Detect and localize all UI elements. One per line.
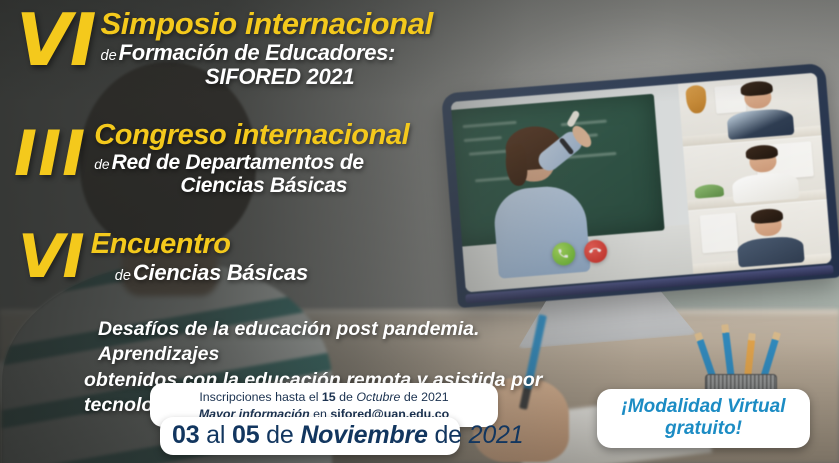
banner-content: VI Simposio internacional deFormación de… [0, 0, 839, 463]
event-text: Simposio internacional deFormación de Ed… [101, 8, 433, 88]
registration-year: de 2021 [400, 390, 448, 404]
date-day-start: 03 [172, 421, 199, 449]
registration-deadline-line: Inscripciones hasta el 15 de Octubre de … [164, 389, 484, 406]
event-heading: Simposio internacional [101, 8, 433, 40]
date-connector-1: al [199, 421, 232, 449]
date-month: Noviembre [300, 421, 427, 449]
event-subheading-line1: deCiencias Básicas [91, 261, 308, 284]
tagline-line-1: Desafíos de la educación post pandemia. … [84, 317, 584, 368]
registration-day: 15 [322, 390, 336, 404]
event-numeral: III [14, 127, 86, 180]
event-block-simposio: VI Simposio internacional deFormación de… [16, 8, 433, 88]
event-text: Encuentro deCiencias Básicas [91, 230, 308, 284]
event-date-card: 03 al 05 de Noviembre de 2021 [160, 417, 460, 455]
date-connector-3: de [428, 421, 469, 449]
connector-de: de [101, 48, 117, 64]
event-subheading-line1: deRed de Departamentos de [94, 152, 409, 174]
event-heading: Encuentro [91, 230, 308, 260]
subheading-text: Ciencias Básicas [133, 260, 308, 285]
event-subheading-line2: SIFORED 2021 [101, 65, 433, 88]
date-year: 2021 [469, 421, 524, 449]
registration-connector: de [336, 390, 357, 404]
event-date-line: 03 al 05 de Noviembre de 2021 [172, 420, 448, 451]
event-numeral: VI [16, 10, 95, 72]
registration-prefix: Inscripciones hasta el [199, 390, 322, 404]
badge-line-2: gratuito! [607, 418, 800, 440]
connector-de: de [115, 268, 131, 284]
date-day-end: 05 [232, 421, 259, 449]
event-block-congreso: III Congreso internacional deRed de Depa… [14, 121, 409, 197]
event-block-encuentro: VI Encuentro deCiencias Básicas [18, 230, 308, 284]
event-promo-banner: VI Simposio internacional deFormación de… [0, 0, 839, 463]
subheading-text: Formación de Educadores: [119, 40, 395, 65]
event-text: Congreso internacional deRed de Departam… [94, 121, 409, 197]
event-subheading-line1: deFormación de Educadores: [101, 41, 433, 64]
connector-de: de [94, 156, 109, 172]
event-heading: Congreso internacional [94, 121, 409, 151]
event-numeral: VI [18, 232, 83, 284]
badge-line-1: ¡Modalidad Virtual [607, 396, 800, 418]
registration-month: Octubre [356, 390, 400, 404]
subheading-text: Red de Departamentos de [112, 151, 364, 174]
date-connector-2: de [259, 421, 300, 449]
virtual-modality-badge: ¡Modalidad Virtual gratuito! [597, 389, 810, 448]
event-subheading-line2: Ciencias Básicas [94, 175, 409, 197]
